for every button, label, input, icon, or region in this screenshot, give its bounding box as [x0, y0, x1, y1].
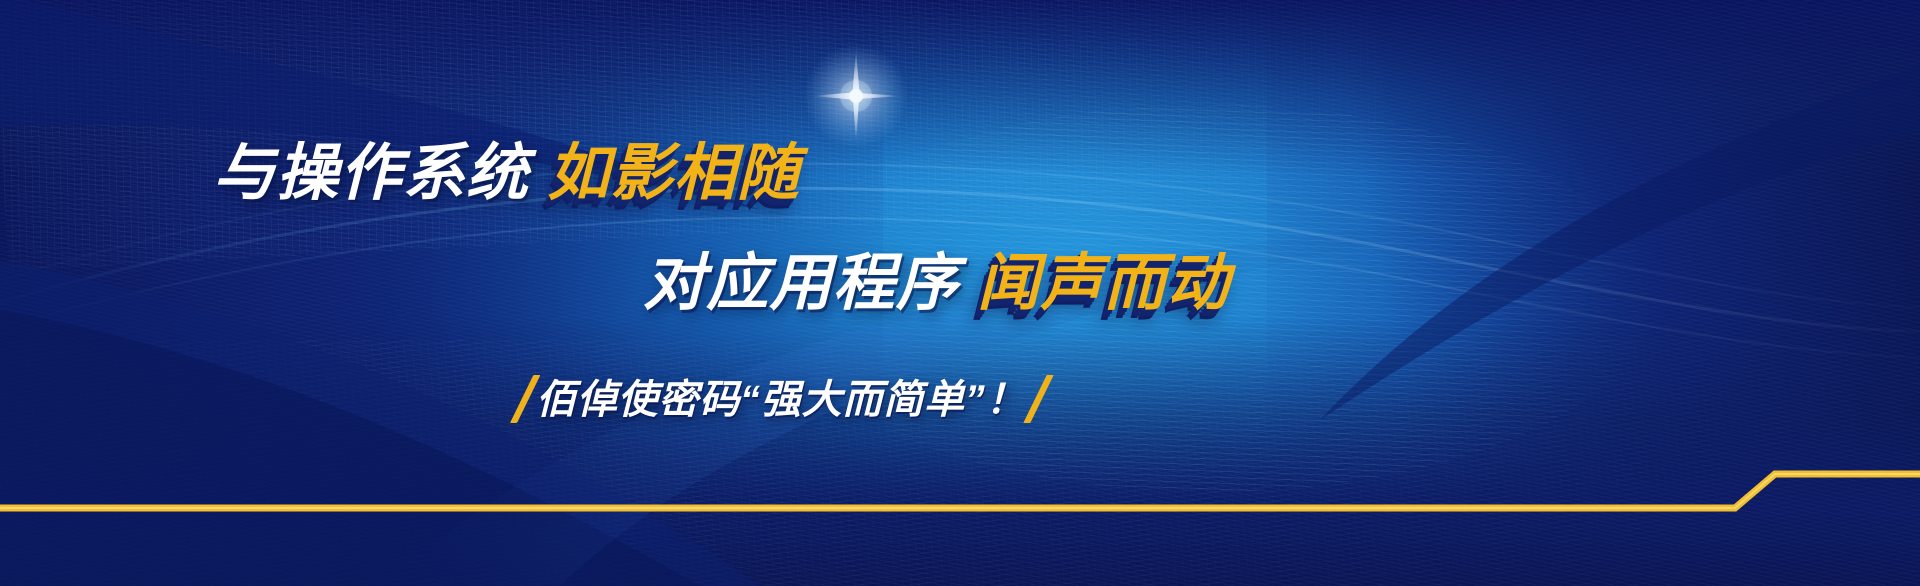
- promo-banner: 与操作系统如影相随 对应用程序闻声而动 佰倬使密码“强大而简单”！: [0, 0, 1920, 586]
- tagline-text: 佰倬使密码“强大而简单”！: [536, 378, 1026, 422]
- headline-line-1-white: 与操作系统: [213, 139, 529, 208]
- headline-line-2-gold: 闻声而动: [977, 249, 1230, 318]
- gold-slash-right-icon: [1023, 375, 1053, 423]
- headline-line-1-gold: 如影相随: [547, 139, 800, 208]
- tagline: 佰倬使密码“强大而简单”！: [536, 367, 1026, 425]
- headline-line-2-white: 对应用程序: [643, 249, 959, 318]
- headline-line-2: 对应用程序闻声而动: [643, 232, 1230, 322]
- headline-line-1: 与操作系统如影相随: [213, 122, 800, 212]
- gold-horizontal-rule: [0, 466, 1920, 586]
